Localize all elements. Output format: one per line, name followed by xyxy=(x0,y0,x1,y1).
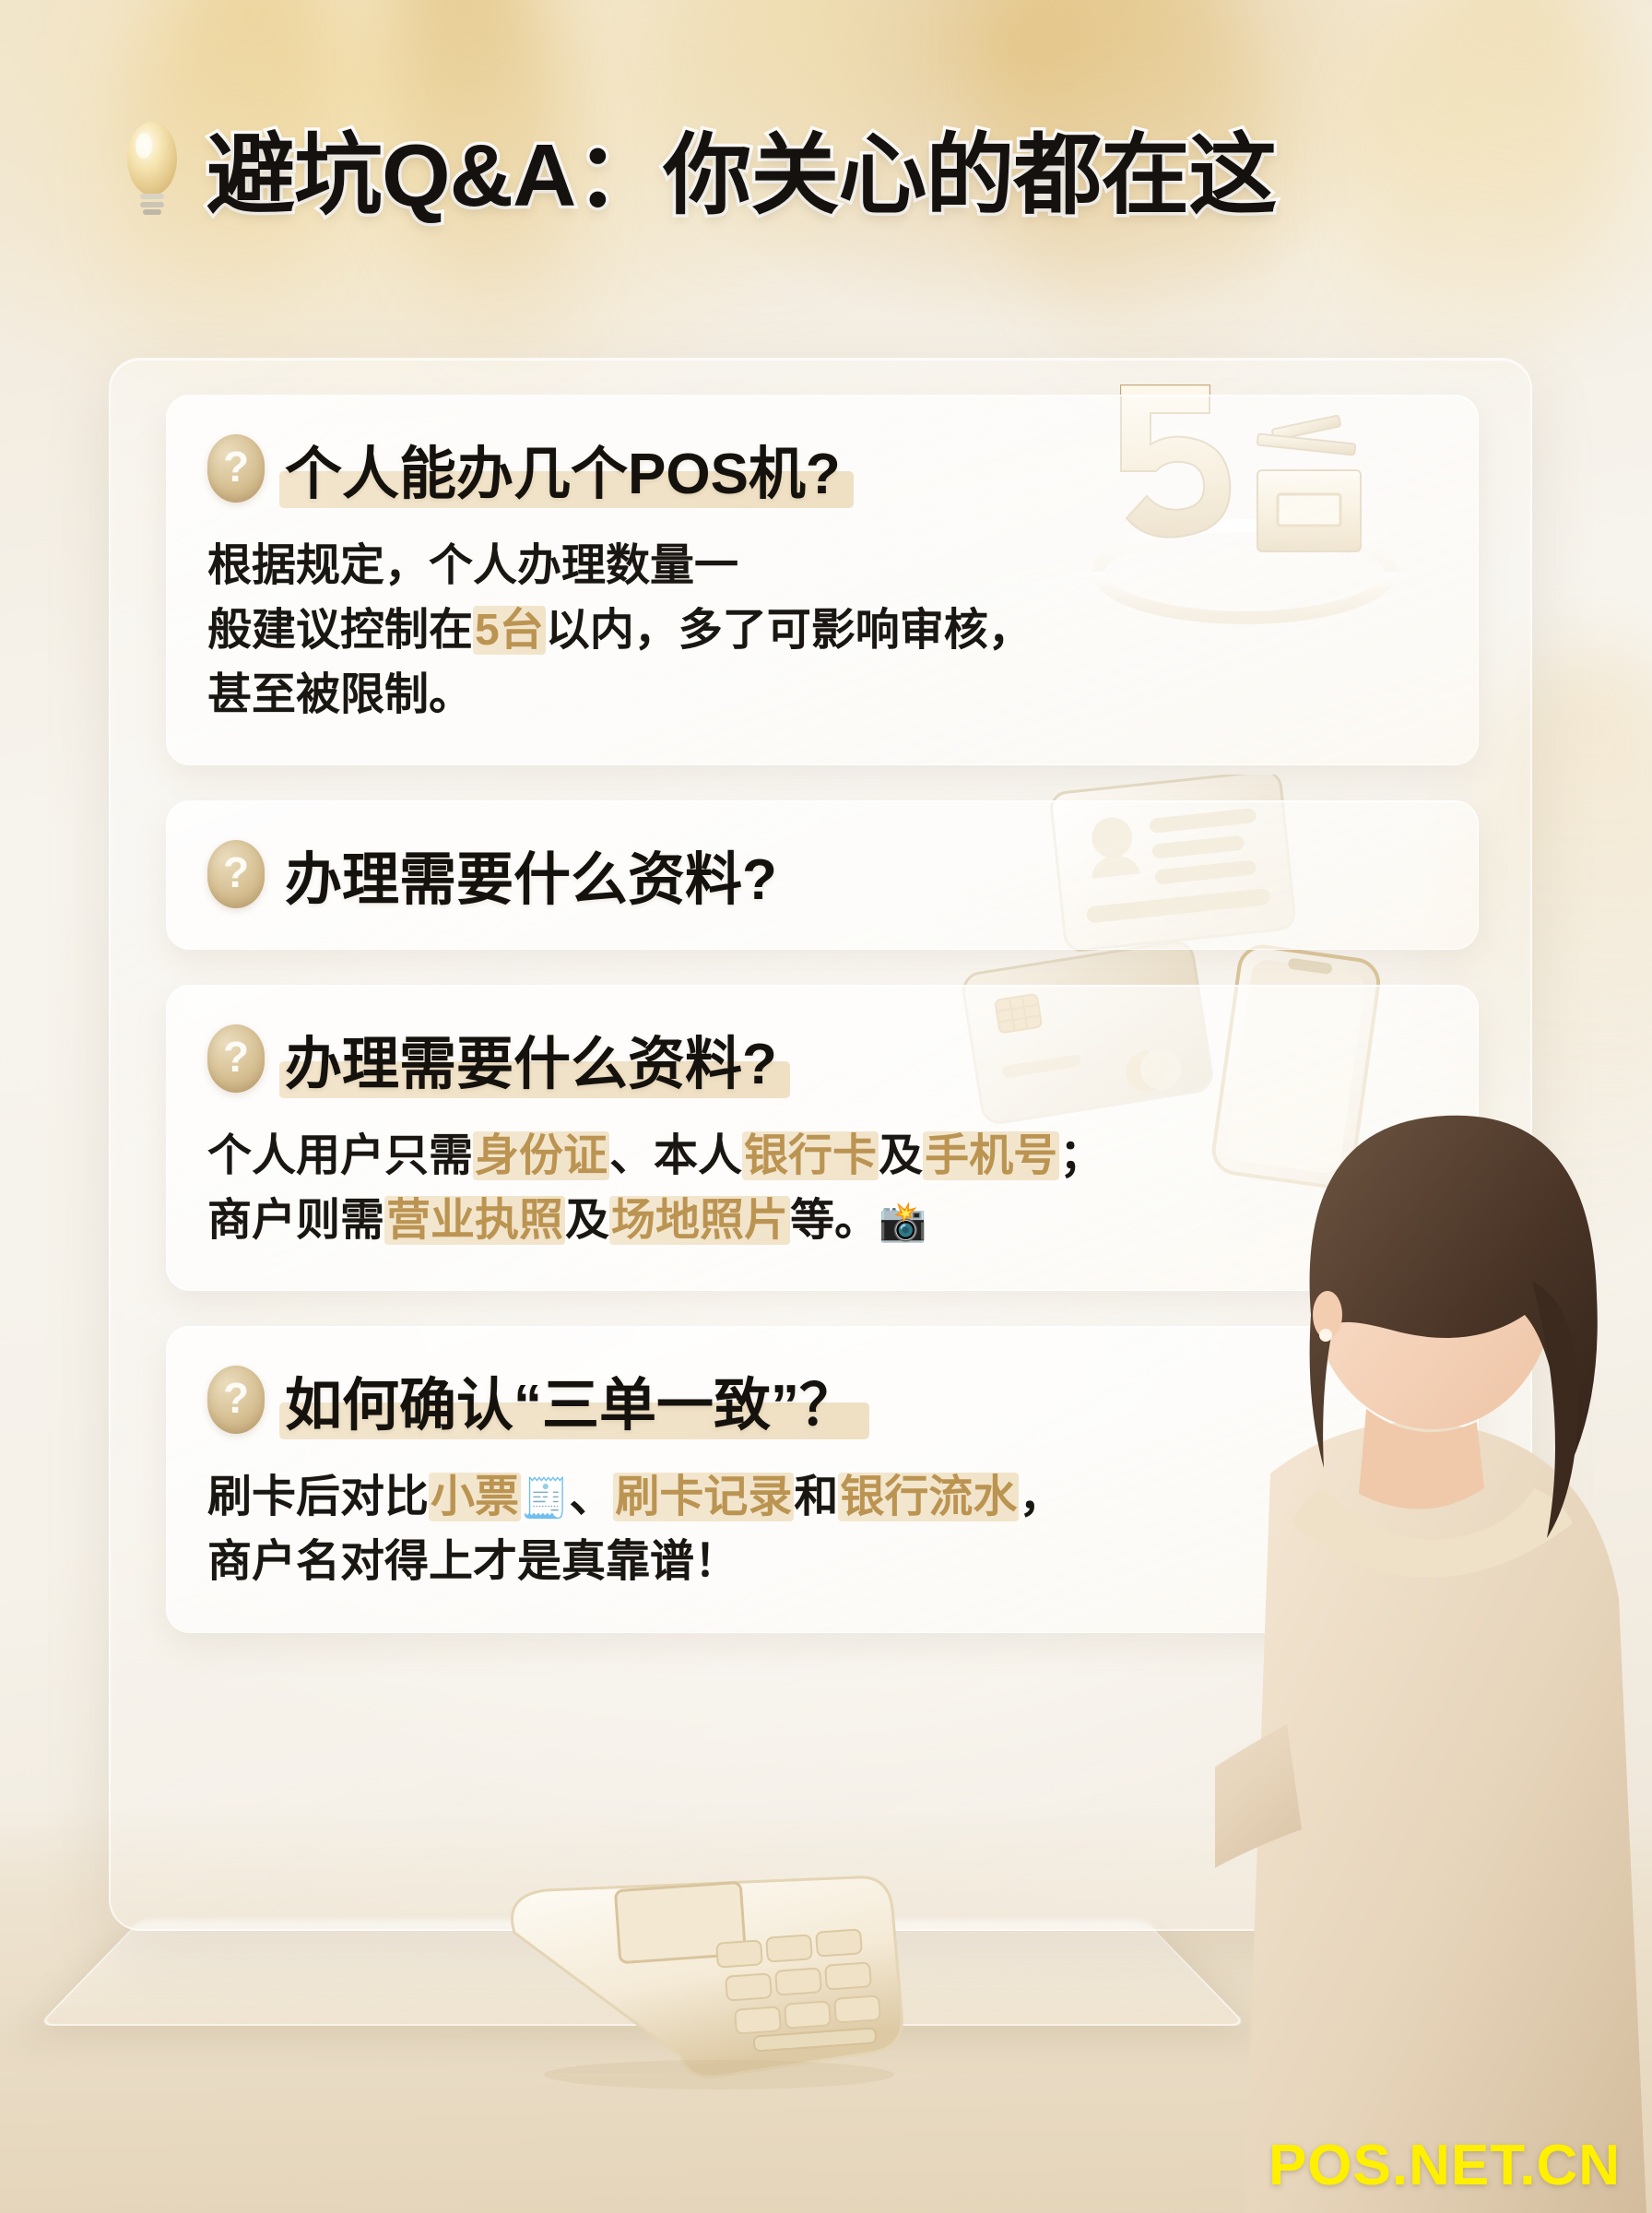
answer-text: ； xyxy=(1059,1131,1103,1180)
qa-question-title: 办理需要什么资料? xyxy=(285,1033,777,1096)
page-header: 避坑Q&A：你关心的都在这 xyxy=(118,103,1276,231)
answer-line: 刷卡后对比小票🧾、刷卡记录和银行流水， xyxy=(207,1465,1437,1530)
receipt-icon: 🧾 xyxy=(521,1476,569,1520)
answer-line: 根据规定，个人办理数量一 xyxy=(207,534,1437,598)
qa-title-wrapper: 个人能办几个POS机? xyxy=(285,427,841,510)
answer-text: 个人用户只需 xyxy=(207,1131,473,1180)
answer-text: 刷卡后对比 xyxy=(207,1473,429,1521)
answer-text: ， xyxy=(1019,1473,1063,1521)
qa-card-header: ? 办理需要什么资料? xyxy=(207,833,1437,916)
answer-text: 般建议控制在 xyxy=(207,606,473,655)
answer-text: 甚至被限制。 xyxy=(207,670,473,719)
answer-line: 商户名对得上才是真靠谱！ xyxy=(207,1530,1437,1594)
answer-highlight: 银行卡 xyxy=(742,1131,879,1180)
qa-title-wrapper: 如何确认“三单一致”？ xyxy=(285,1358,856,1441)
answer-highlight: 5台 xyxy=(473,606,546,655)
answer-line: 商户则需营业执照及场地照片等。📸 xyxy=(207,1189,1437,1253)
qa-question-title: 个人能办几个POS机? xyxy=(285,443,841,506)
answer-text: 以内，多了可影响审核， xyxy=(546,606,1032,655)
answer-line: 般建议控制在5台以内，多了可影响审核， xyxy=(207,598,1437,663)
lightbulb-icon xyxy=(118,120,186,216)
qa-card-pos-count[interactable]: ? 个人能办几个POS机? 根据规定，个人办理数量一 般建议控制在5台以内，多了… xyxy=(166,395,1479,765)
answer-line: 个人用户只需身份证、本人银行卡及手机号； xyxy=(207,1124,1437,1189)
answer-highlight: 银行流水 xyxy=(838,1473,1019,1521)
answer-highlight: 营业执照 xyxy=(384,1196,565,1245)
qa-question-title: 办理需要什么资料? xyxy=(285,848,777,912)
answer-highlight: 手机号 xyxy=(923,1131,1059,1180)
qa-question-title: 如何确认“三单一致”？ xyxy=(285,1374,856,1438)
question-mark-icon: ? xyxy=(207,1366,265,1434)
question-mark-icon: ? xyxy=(207,1024,265,1093)
qa-title-wrapper: 办理需要什么资料? xyxy=(285,833,777,916)
qa-card-materials-collapsed[interactable]: ? 办理需要什么资料? xyxy=(166,800,1479,950)
qa-card-header: ? 个人能办几个POS机? xyxy=(207,427,1437,510)
answer-text: 等。 xyxy=(790,1196,879,1245)
qa-card-materials[interactable]: ? 办理需要什么资料? 个人用户只需身份证、本人银行卡及手机号； 商户则需营业执… xyxy=(166,985,1479,1291)
answer-text: 根据规定，个人办理数量一 xyxy=(207,541,738,590)
answer-highlight: 身份证 xyxy=(473,1131,609,1180)
answer-highlight: 刷卡记录 xyxy=(613,1473,794,1521)
site-watermark: POS.NET.CN xyxy=(1268,2133,1621,2198)
answer-text: 及 xyxy=(565,1196,609,1245)
qa-title-wrapper: 办理需要什么资料? xyxy=(285,1017,777,1100)
answer-text: 及 xyxy=(879,1131,923,1180)
qa-answer-body: 个人用户只需身份证、本人银行卡及手机号； 商户则需营业执照及场地照片等。📸 xyxy=(207,1124,1437,1253)
answer-text: 和 xyxy=(794,1473,838,1521)
glass-shelf xyxy=(38,1920,1248,2026)
qa-card-list: ? 个人能办几个POS机? 根据规定，个人办理数量一 般建议控制在5台以内，多了… xyxy=(166,395,1479,1668)
qa-card-three-match[interactable]: ? 如何确认“三单一致”？ 刷卡后对比小票🧾、刷卡记录和银行流水， 商户名对得上… xyxy=(166,1326,1479,1632)
page-title: 避坑Q&A：你关心的都在这 xyxy=(206,103,1276,231)
answer-line: 甚至被限制。 xyxy=(207,663,1437,728)
question-mark-icon: ? xyxy=(207,840,265,908)
question-mark-icon: ? xyxy=(207,434,265,503)
answer-text: 商户名对得上才是真靠谱！ xyxy=(207,1537,738,1586)
qa-card-header: ? 办理需要什么资料? xyxy=(207,1017,1437,1100)
answer-text: 商户则需 xyxy=(207,1196,384,1245)
answer-text: 、本人 xyxy=(609,1131,742,1180)
qa-answer-body: 刷卡后对比小票🧾、刷卡记录和银行流水， 商户名对得上才是真靠谱！ xyxy=(207,1465,1437,1594)
answer-text: 、 xyxy=(569,1473,613,1521)
qa-answer-body: 根据规定，个人办理数量一 般建议控制在5台以内，多了可影响审核， 甚至被限制。 xyxy=(207,534,1437,728)
answer-highlight: 场地照片 xyxy=(609,1196,790,1245)
answer-highlight: 小票 xyxy=(429,1473,521,1521)
camera-icon: 📸 xyxy=(879,1200,926,1243)
qa-card-header: ? 如何确认“三单一致”？ xyxy=(207,1358,1437,1441)
